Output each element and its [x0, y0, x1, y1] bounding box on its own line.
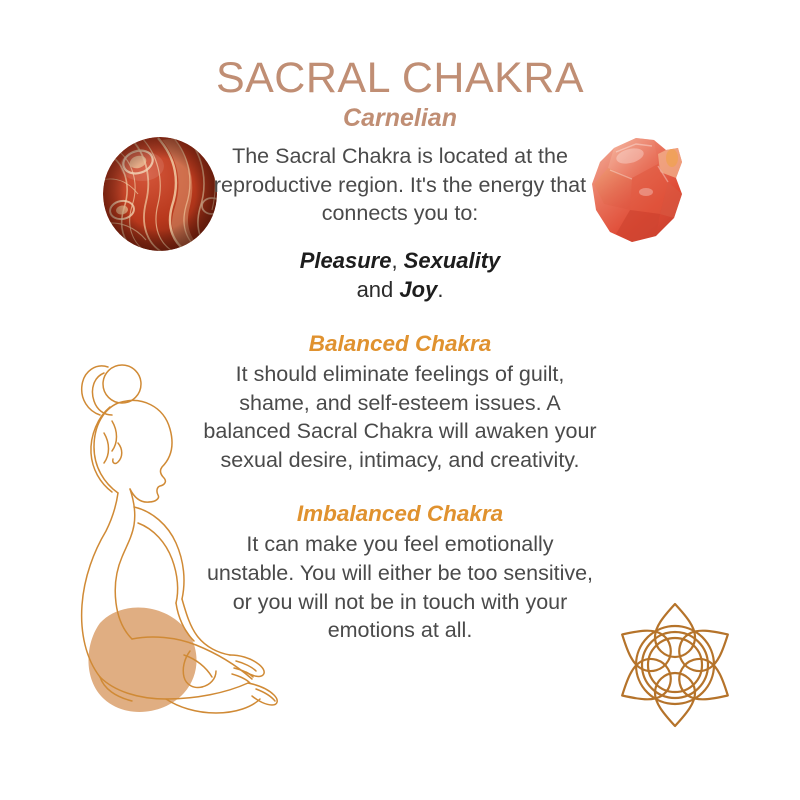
- keyword-conjunction: and: [357, 277, 400, 302]
- keywords-line: Pleasure, Sexualityand Joy.: [200, 246, 600, 304]
- balanced-chakra-heading: Balanced Chakra: [200, 330, 600, 358]
- intro-paragraph: The Sacral Chakra is located at the repr…: [200, 142, 600, 228]
- balanced-chakra-body: It should eliminate feelings of guilt, s…: [200, 360, 600, 474]
- content-column: The Sacral Chakra is located at the repr…: [200, 142, 600, 645]
- infographic-canvas: SACRAL CHAKRA Carnelian The Sacral Chakr…: [0, 0, 800, 800]
- raw-carnelian-stone-image: [586, 134, 694, 246]
- keyword-pleasure: Pleasure: [300, 248, 392, 273]
- imbalanced-chakra-section: Imbalanced Chakra It can make you feel e…: [200, 500, 600, 645]
- imbalanced-chakra-heading: Imbalanced Chakra: [200, 500, 600, 528]
- title-block: SACRAL CHAKRA Carnelian: [0, 56, 800, 133]
- keyword-separator: ,: [391, 248, 403, 273]
- keyword-joy: Joy: [399, 277, 437, 302]
- balanced-chakra-section: Balanced Chakra It should eliminate feel…: [200, 330, 600, 475]
- imbalanced-chakra-body: It can make you feel emotionally unstabl…: [200, 530, 600, 644]
- page-title: SACRAL CHAKRA: [0, 56, 800, 101]
- page-subtitle: Carnelian: [0, 105, 800, 133]
- svadhisthana-symbol-icon: [614, 600, 736, 730]
- keyword-sexuality: Sexuality: [404, 248, 501, 273]
- keyword-period: .: [437, 277, 443, 302]
